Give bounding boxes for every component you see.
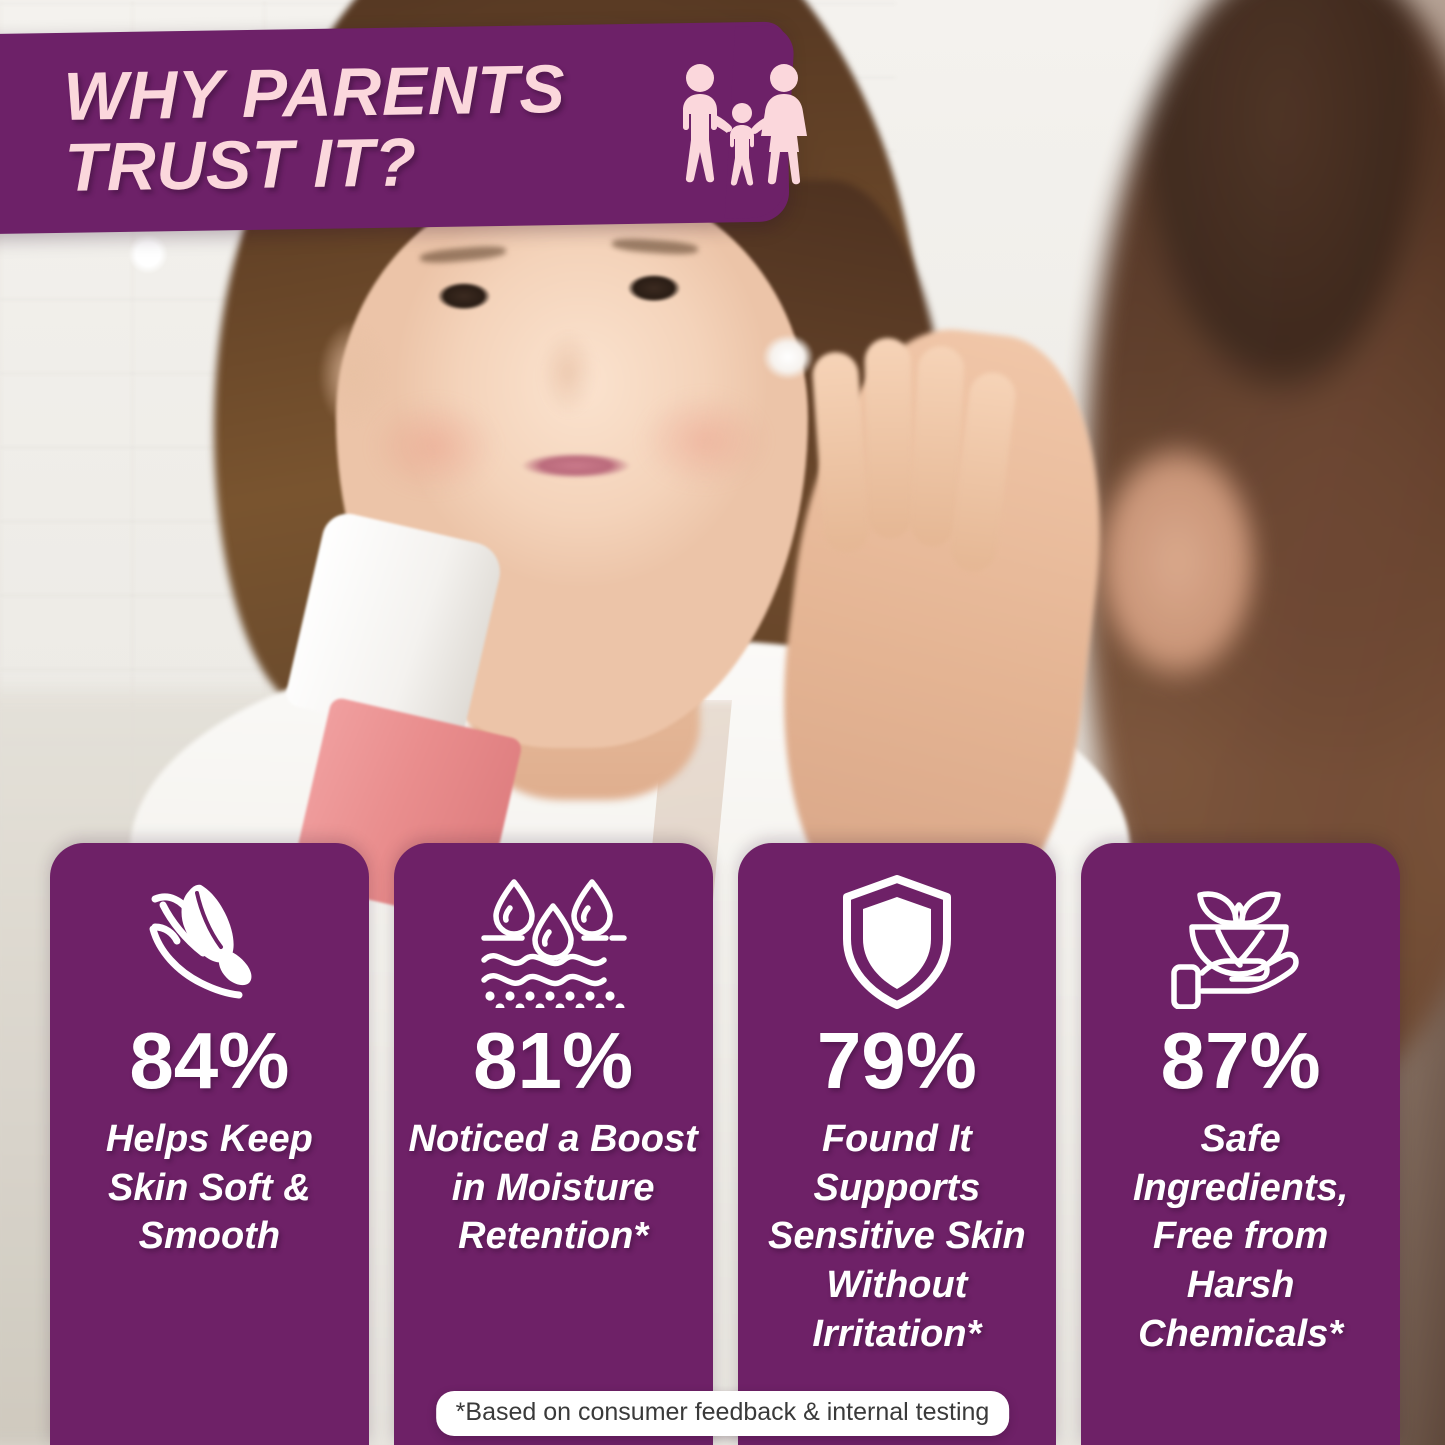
girl-nose xyxy=(540,330,596,416)
girl-ear xyxy=(318,320,390,430)
shield-icon xyxy=(837,867,957,1017)
bottle-logo xyxy=(128,234,168,274)
moisture-droplets-icon xyxy=(478,867,628,1017)
girl-eye-right xyxy=(616,268,692,310)
mirror-hand xyxy=(1085,430,1295,760)
stat-label: Safe Ingredients, Free from Harsh Chemic… xyxy=(1091,1115,1390,1358)
family-icon xyxy=(672,58,812,186)
girl-eye-left xyxy=(426,276,502,318)
stat-percent: 87% xyxy=(1161,1021,1321,1101)
stat-label: Helps Keep Skin Soft & Smooth xyxy=(60,1115,359,1261)
girl-finger xyxy=(864,338,913,539)
girl-mouth xyxy=(500,448,652,490)
cream-dab xyxy=(762,334,814,380)
stat-label: Found It Supports Sensitive Skin Without… xyxy=(748,1115,1047,1358)
girl-cheek-right xyxy=(640,392,768,488)
stat-label: Noticed a Boost in Moisture Retention* xyxy=(404,1115,703,1261)
girl-cheek-left xyxy=(370,398,498,494)
feather-icon xyxy=(139,867,279,1017)
infographic-poster: WHY PARENTS TRUST IT? xyxy=(0,0,1445,1445)
page-title: WHY PARENTS TRUST IT? xyxy=(63,53,625,203)
hand-holding-plant-icon xyxy=(1166,867,1316,1017)
stat-card-safe-ingredients[interactable]: 87% Safe Ingredients, Free from Harsh Ch… xyxy=(1081,843,1400,1445)
stat-card-sensitive-skin[interactable]: 79% Found It Supports Sensitive Skin Wit… xyxy=(738,843,1057,1445)
stat-percent: 79% xyxy=(817,1021,977,1101)
stat-cards-row: 84% Helps Keep Skin Soft & Smooth xyxy=(50,843,1400,1445)
stat-card-soft-smooth[interactable]: 84% Helps Keep Skin Soft & Smooth xyxy=(50,843,369,1445)
stat-percent: 84% xyxy=(129,1021,289,1101)
footnote-disclaimer: *Based on consumer feedback & internal t… xyxy=(436,1391,1010,1436)
stat-card-moisture-retention[interactable]: 81% Noticed a Boost in Moisture Retentio… xyxy=(394,843,713,1445)
stat-percent: 81% xyxy=(473,1021,633,1101)
